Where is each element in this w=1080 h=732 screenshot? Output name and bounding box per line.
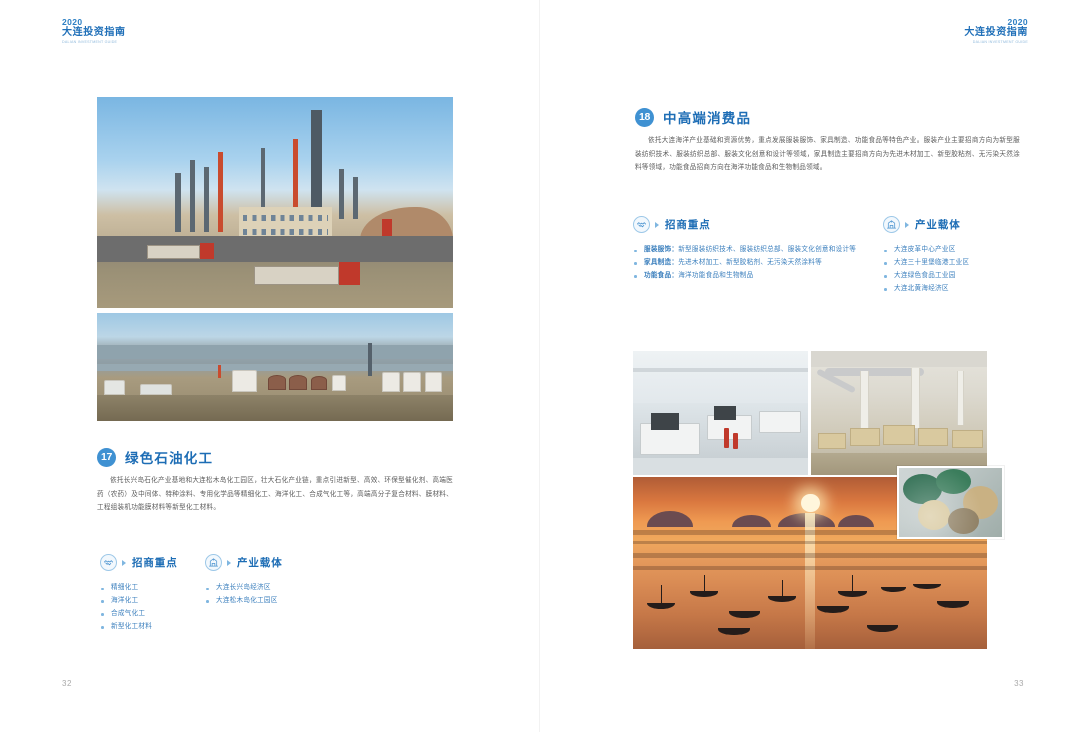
section-title: 中高端消费品 xyxy=(663,107,751,127)
list-item: 海洋化工 xyxy=(100,595,205,608)
list-item: 大连三十里堡临港工业区 xyxy=(883,257,1028,270)
list-item: 大连长兴岛经济区 xyxy=(205,582,345,595)
list-item: 合成气化工 xyxy=(100,608,205,621)
subsection-industrial-carrier: 产业载体 大连长兴岛经济区 大连松木岛化工园区 xyxy=(205,554,345,633)
list-item: 大连绿色食品工业园 xyxy=(883,270,1028,283)
subsection-investment-focus: 招商重点 服装服饰：新型服装纺织技术、服装纺织总部、服装文化创意和设计等 家具制… xyxy=(633,216,883,295)
handshake-icon xyxy=(100,554,117,571)
header-subtitle-en: DALIAN INVESTMENT GUIDE xyxy=(964,41,1028,44)
page-number-left: 32 xyxy=(62,679,72,688)
handshake-icon xyxy=(633,216,650,233)
list-item-text: 新型服装纺织技术、服装纺织总部、服装文化创意和设计等 xyxy=(678,246,856,253)
list-item: 大连皮革中心产业区 xyxy=(883,244,1028,257)
industrial-carrier-list: 大连皮革中心产业区 大连三十里堡临港工业区 大连绿色食品工业园 大连北黄海经济区 xyxy=(883,244,1028,295)
garment-factory-photo xyxy=(633,351,808,475)
subsection-title: 招商重点 xyxy=(665,217,711,232)
industrial-carrier-icon xyxy=(205,554,222,571)
list-item: 精细化工 xyxy=(100,582,205,595)
page-left: 2020 大连投资指南 DALIAN INVESTMENT GUIDE xyxy=(0,0,540,732)
list-item: 功能食品：海洋功能食品和生物制品 xyxy=(633,270,883,283)
list-item-text: 海洋功能食品和生物制品 xyxy=(678,272,753,279)
petrochemical-plant-photo xyxy=(97,97,453,308)
seafood-shellfish-photo xyxy=(897,466,1004,539)
subsection-investment-focus: 招商重点 精细化工 海洋化工 合成气化工 新型化工材料 xyxy=(100,554,205,633)
section-heading-17: 17 绿色石油化工 xyxy=(97,447,213,467)
petrochemical-tank-farm-photo xyxy=(97,313,453,421)
triangle-marker-icon xyxy=(905,222,909,228)
list-item-text: 先进木材加工、新型胶粘剂、无污染天然涂料等 xyxy=(678,259,822,266)
list-item-label: 家具制造： xyxy=(644,259,678,266)
header-title-cn: 大连投资指南 xyxy=(62,28,126,39)
subsection-title: 产业载体 xyxy=(915,217,961,232)
list-item: 大连北黄海经济区 xyxy=(883,283,1028,296)
list-item: 服装服饰：新型服装纺织技术、服装纺织总部、服装文化创意和设计等 xyxy=(633,244,883,257)
triangle-marker-icon xyxy=(122,560,126,566)
section-body-paragraph: 依托长兴岛石化产业基地和大连松木岛化工园区，壮大石化产业链，重点引进新型、高效、… xyxy=(97,474,453,515)
investment-focus-list: 服装服饰：新型服装纺织技术、服装纺织总部、服装文化创意和设计等 家具制造：先进木… xyxy=(633,244,883,283)
list-item-label: 功能食品： xyxy=(644,272,678,279)
page-right: 2020 大连投资指南 DALIAN INVESTMENT GUIDE 18 中… xyxy=(540,0,1080,732)
subsection-title: 招商重点 xyxy=(132,555,178,570)
right-subsections: 招商重点 服装服饰：新型服装纺织技术、服装纺织总部、服装文化创意和设计等 家具制… xyxy=(633,216,1028,295)
section-heading-18: 18 中高端消费品 xyxy=(635,107,751,127)
list-item-label: 服装服饰： xyxy=(644,246,678,253)
document-spread: 2020 大连投资指南 DALIAN INVESTMENT GUIDE xyxy=(0,0,1080,732)
investment-focus-list: 精细化工 海洋化工 合成气化工 新型化工材料 xyxy=(100,582,205,633)
section-title: 绿色石油化工 xyxy=(125,447,213,467)
header-title-cn: 大连投资指南 xyxy=(964,28,1028,39)
industrial-carrier-list: 大连长兴岛经济区 大连松木岛化工园区 xyxy=(205,582,345,608)
header-year: 2020 xyxy=(62,18,126,27)
triangle-marker-icon xyxy=(227,560,231,566)
subsection-industrial-carrier: 产业载体 大连皮革中心产业区 大连三十里堡临港工业区 大连绿色食品工业园 大连北… xyxy=(883,216,1028,295)
industrial-carrier-icon xyxy=(883,216,900,233)
running-header-right: 2020 大连投资指南 DALIAN INVESTMENT GUIDE xyxy=(964,18,1028,45)
section-number-badge: 18 xyxy=(635,108,654,127)
header-subtitle-en: DALIAN INVESTMENT GUIDE xyxy=(62,41,126,44)
furniture-factory-photo xyxy=(811,351,987,475)
running-header-left: 2020 大连投资指南 DALIAN INVESTMENT GUIDE xyxy=(62,18,126,45)
list-item: 大连松木岛化工园区 xyxy=(205,595,345,608)
section-body-paragraph: 依托大连海洋产业基础和资源优势，重点发展服装服饰、家具制造、功能食品等特色产业。… xyxy=(635,134,1020,175)
triangle-marker-icon xyxy=(655,222,659,228)
header-year: 2020 xyxy=(964,18,1028,27)
left-subsections: 招商重点 精细化工 海洋化工 合成气化工 新型化工材料 xyxy=(100,554,460,633)
list-item: 家具制造：先进木材加工、新型胶粘剂、无污染天然涂料等 xyxy=(633,257,883,270)
subsection-title: 产业载体 xyxy=(237,555,283,570)
list-item: 新型化工材料 xyxy=(100,621,205,634)
section-number-badge: 17 xyxy=(97,448,116,467)
page-number-right: 33 xyxy=(1014,679,1024,688)
